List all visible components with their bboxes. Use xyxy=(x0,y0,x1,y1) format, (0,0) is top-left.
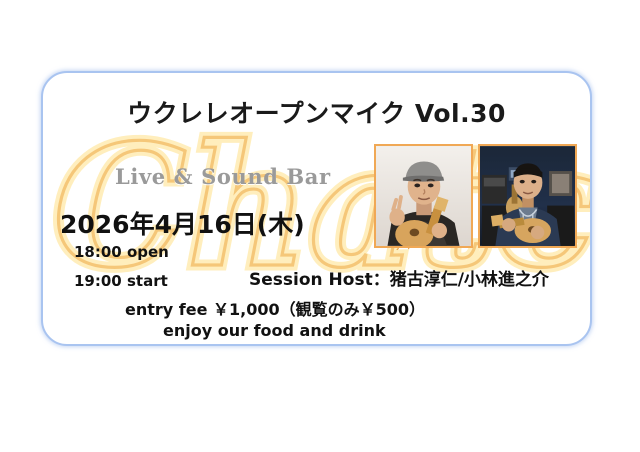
session-host: Session Host：猪古淳仁/小林進之介 xyxy=(249,265,549,290)
host-photo-right xyxy=(478,144,577,248)
food-and-drink-note: enjoy our food and drink xyxy=(163,321,386,340)
entry-fee: entry fee ￥1,000（観覧のみ￥500） xyxy=(125,296,425,320)
start-time: 19:00 start xyxy=(74,272,168,290)
event-title: ウクレレオープンマイク Vol.30 xyxy=(43,94,590,130)
event-date: 2026年4月16日(木) xyxy=(60,205,305,241)
event-flyer-card: Chatchu Chatchu ウクレレオープンマイク Vol.30 Live … xyxy=(41,71,592,346)
venue-tagline: Live & Sound Bar xyxy=(115,164,331,189)
host-photo-left xyxy=(374,144,473,248)
host-photos xyxy=(374,144,577,248)
open-time: 18:00 open xyxy=(74,243,169,261)
